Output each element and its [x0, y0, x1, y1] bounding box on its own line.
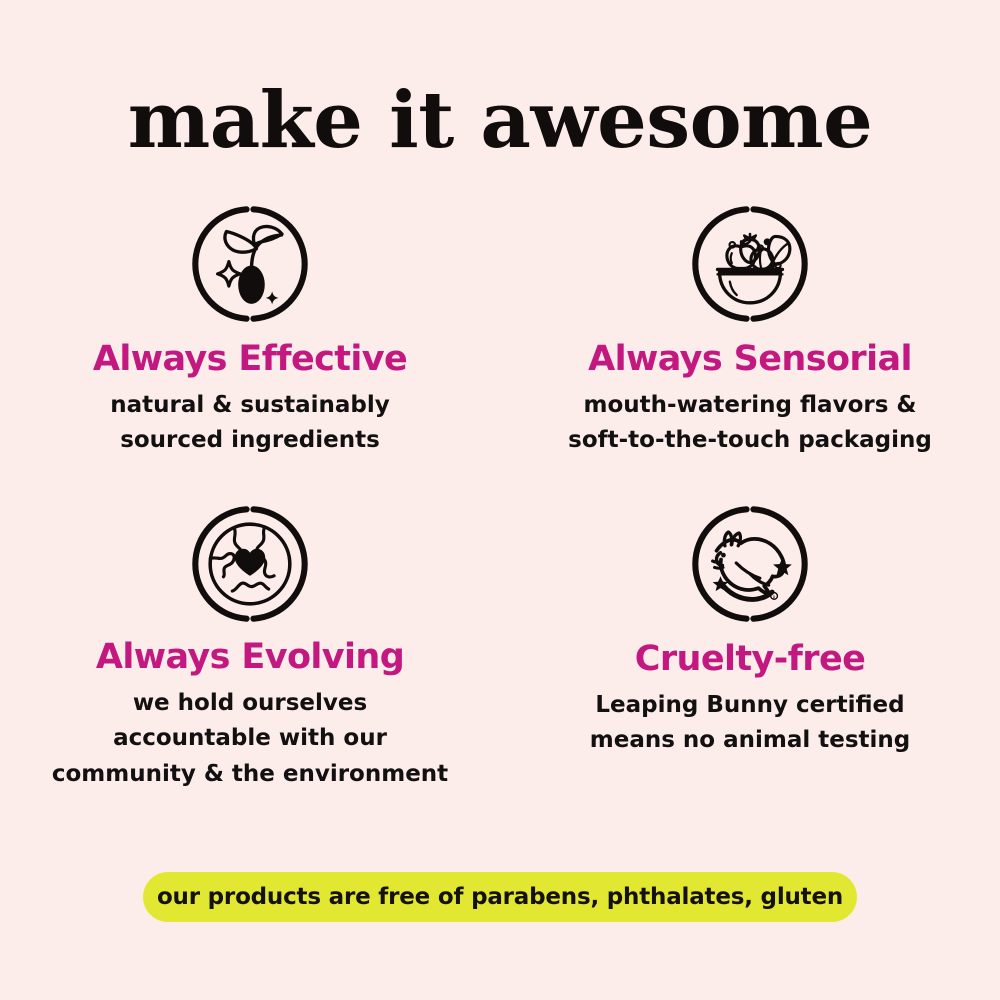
feature-grid: Always Effective natural & sustainably s… [0, 205, 1000, 805]
svg-text:R: R [773, 594, 776, 599]
fruit-bowl-icon [691, 205, 809, 323]
feature-desc-line: natural & sustainably [110, 388, 389, 424]
olive-branch-sparkle-icon [191, 205, 309, 323]
feature-description: natural & sustainably sourced ingredient… [110, 388, 389, 459]
feature-title: Always Effective [93, 341, 407, 378]
marketing-graphic: make it awesome [0, 0, 1000, 1000]
feature-desc-line: soft-to-the-touch packaging [568, 423, 932, 459]
page-headline: make it awesome [0, 82, 1000, 160]
feature-desc-line: means no animal testing [590, 723, 911, 759]
feature-desc-line: mouth-watering flavors & [568, 388, 932, 424]
feature-desc-line: Leaping Bunny certified [590, 688, 911, 724]
feature-desc-line: sourced ingredients [110, 423, 389, 459]
feature-desc-line: accountable with our [52, 721, 448, 757]
feature-desc-line: we hold ourselves [52, 686, 448, 722]
feature-title: Always Sensorial [588, 341, 912, 378]
feature-description: mouth-watering flavors & soft-to-the-tou… [568, 388, 932, 459]
feature-card-always-evolving: Always Evolving we hold ourselves accoun… [0, 505, 500, 805]
feature-card-always-sensorial: Always Sensorial mouth-watering flavors … [500, 205, 1000, 505]
feature-card-cruelty-free: R Cruelty-free Leaping Bunny certified m… [500, 505, 1000, 805]
feature-title: Cruelty-free [635, 641, 865, 678]
feature-title: Always Evolving [96, 639, 404, 676]
free-of-banner-text: our products are free of parabens, phtha… [157, 884, 843, 910]
feature-card-always-effective: Always Effective natural & sustainably s… [0, 205, 500, 505]
free-of-banner: our products are free of parabens, phtha… [143, 872, 857, 922]
leaping-bunny-icon: R [691, 505, 809, 623]
feature-desc-line: community & the environment [52, 757, 448, 793]
globe-heart-icon [191, 505, 309, 623]
feature-description: Leaping Bunny certified means no animal … [590, 688, 911, 759]
feature-description: we hold ourselves accountable with our c… [52, 686, 448, 793]
